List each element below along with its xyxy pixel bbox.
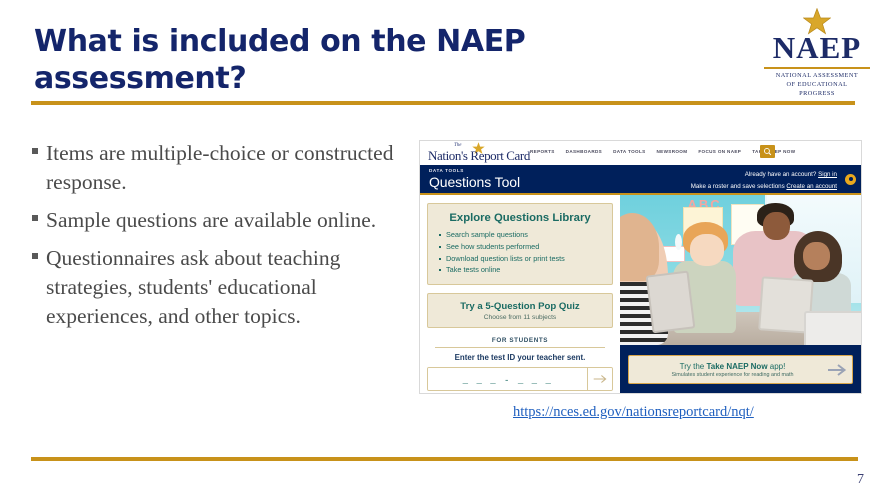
for-students-heading: FOR STUDENTS bbox=[427, 337, 613, 344]
list-item-label: Items are multiple-choice or constructed… bbox=[46, 139, 427, 197]
promo-text: Try the Take NAEP Now app! Simulates stu… bbox=[629, 362, 822, 378]
bullet-list: Items are multiple-choice or constructed… bbox=[32, 139, 427, 340]
promo-headline: Try the Take NAEP Now app! bbox=[643, 362, 822, 371]
page-banner: DATA TOOLS Questions Tool Already have a… bbox=[420, 165, 861, 193]
naep-subtitle-line-2: OF EDUCATIONAL bbox=[756, 80, 878, 89]
test-id-input[interactable]: _ _ _ - _ _ _ bbox=[428, 368, 587, 390]
naep-underline bbox=[764, 67, 870, 69]
page-title: What is included on the NAEP assessment? bbox=[34, 24, 654, 97]
footer-divider-rule bbox=[31, 457, 858, 461]
list-item: Questionnaires ask about teaching strate… bbox=[32, 244, 427, 331]
test-id-prompt: Enter the test ID your teacher sent. bbox=[427, 353, 613, 362]
banner-title: Questions Tool bbox=[429, 174, 520, 190]
site-nav: REPORTS DASHBOARDS DATA TOOLS NEWSROOM F… bbox=[530, 149, 795, 154]
list-item: Take tests online bbox=[438, 264, 602, 276]
nav-item-reports[interactable]: REPORTS bbox=[530, 149, 555, 154]
list-item-label: Questionnaires ask about teaching strate… bbox=[46, 244, 427, 331]
explore-questions-library-card[interactable]: Explore Questions Library Search sample … bbox=[427, 203, 613, 285]
embedded-website-screenshot: The Nation's Report Card REPORTS DASHBOA… bbox=[419, 140, 862, 394]
nav-item-focus-on-naep[interactable]: FOCUS ON NAEP bbox=[698, 149, 741, 154]
pop-quiz-card[interactable]: Try a 5-Question Pop Quiz Choose from 11… bbox=[427, 293, 613, 328]
logo-name-label: Nation's Report Card bbox=[428, 148, 530, 164]
naep-subtitle: NATIONAL ASSESSMENT OF EDUCATIONAL PROGR… bbox=[756, 71, 878, 98]
account-question-label: Already have an account? bbox=[745, 171, 817, 178]
create-account-link[interactable]: Create an account bbox=[786, 183, 837, 190]
site-top-bar: The Nation's Report Card REPORTS DASHBOA… bbox=[420, 141, 861, 165]
sign-in-link[interactable]: Sign in bbox=[818, 171, 837, 178]
library-card-list: Search sample questions See how students… bbox=[438, 229, 602, 276]
list-item: Items are multiple-choice or constructed… bbox=[32, 139, 427, 197]
nav-item-dashboards[interactable]: DASHBOARDS bbox=[566, 149, 602, 154]
square-bullet-icon bbox=[32, 148, 38, 154]
naep-subtitle-line-1: NATIONAL ASSESSMENT bbox=[756, 71, 878, 80]
list-item: See how students performed bbox=[438, 241, 602, 253]
test-id-submit-button[interactable] bbox=[587, 368, 612, 390]
arrow-right-icon bbox=[827, 363, 847, 377]
promo-arrow-button[interactable] bbox=[822, 363, 852, 377]
test-id-row: _ _ _ - _ _ _ bbox=[427, 367, 613, 391]
pop-quiz-subtitle: Choose from 11 subjects bbox=[436, 314, 604, 321]
list-item: Search sample questions bbox=[438, 229, 602, 241]
list-item: Download question lists or print tests bbox=[438, 253, 602, 265]
right-column: ABC bbox=[620, 195, 861, 393]
classroom-photo: ABC bbox=[620, 195, 861, 345]
account-area: Already have an account? Sign in Make a … bbox=[691, 169, 837, 193]
roster-label: Make a roster and save selections bbox=[691, 183, 785, 190]
arrow-right-icon bbox=[593, 374, 607, 384]
naep-logo: NAEP NATIONAL ASSESSMENT OF EDUCATIONAL … bbox=[756, 8, 878, 94]
nqt-url-link[interactable]: https://nces.ed.gov/nationsreportcard/nq… bbox=[513, 404, 754, 421]
banner-kicker: DATA TOOLS bbox=[429, 168, 464, 173]
promo-app-name: Take NAEP Now bbox=[706, 362, 767, 371]
for-students-divider bbox=[435, 347, 605, 348]
library-card-title: Explore Questions Library bbox=[438, 212, 602, 224]
search-icon bbox=[763, 147, 772, 156]
account-line-1: Already have an account? Sign in bbox=[691, 169, 837, 181]
nations-report-card-logo[interactable]: The Nation's Report Card bbox=[428, 144, 536, 162]
promo-subtext: Simulates student experience for reading… bbox=[643, 372, 822, 378]
search-button[interactable] bbox=[760, 145, 775, 158]
title-divider-rule bbox=[31, 101, 855, 105]
pop-quiz-title: Try a 5-Question Pop Quiz bbox=[436, 301, 604, 312]
square-bullet-icon bbox=[32, 253, 38, 259]
page-body: Explore Questions Library Search sample … bbox=[420, 195, 861, 393]
promo-suffix: app! bbox=[768, 362, 786, 371]
nav-item-newsroom[interactable]: NEWSROOM bbox=[657, 149, 688, 154]
user-avatar-icon[interactable] bbox=[845, 174, 856, 185]
naep-wordmark: NAEP bbox=[756, 32, 878, 63]
left-column: Explore Questions Library Search sample … bbox=[420, 195, 620, 393]
promo-prefix: Try the bbox=[680, 362, 707, 371]
naep-subtitle-line-3: PROGRESS bbox=[756, 89, 878, 98]
list-item-label: Sample questions are available online. bbox=[46, 206, 427, 235]
nav-item-data-tools[interactable]: DATA TOOLS bbox=[613, 149, 645, 154]
list-item: Sample questions are available online. bbox=[32, 206, 427, 235]
slide: What is included on the NAEP assessment?… bbox=[0, 0, 889, 502]
square-bullet-icon bbox=[32, 215, 38, 221]
take-naep-now-app-promo[interactable]: Try the Take NAEP Now app! Simulates stu… bbox=[628, 355, 853, 384]
page-number: 7 bbox=[857, 472, 864, 488]
account-line-2: Make a roster and save selections Create… bbox=[691, 181, 837, 193]
